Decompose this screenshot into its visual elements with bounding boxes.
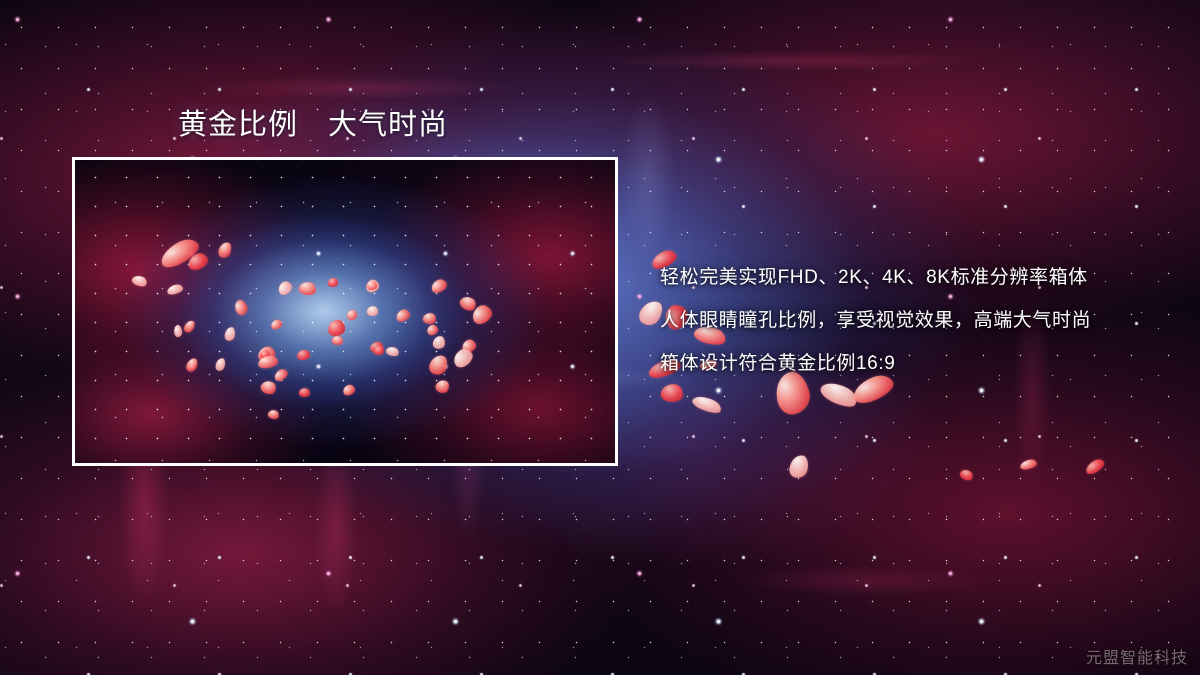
- description-line: 箱体设计符合黄金比例16:9: [660, 342, 1180, 385]
- rose-petal: [328, 278, 338, 287]
- rose-petal: [347, 310, 357, 320]
- rose-petal: [367, 281, 377, 290]
- photo-starfield: [75, 160, 615, 463]
- feature-description: 轻松完美实现FHD、2K、4K、8K标准分辨率箱体 人体眼睛瞳孔比例，享受视觉效…: [660, 256, 1180, 385]
- company-watermark: 元盟智能科技: [1086, 644, 1188, 668]
- description-line: 轻松完美实现FHD、2K、4K、8K标准分辨率箱体: [660, 256, 1180, 299]
- page-title: 黄金比例 大气时尚: [178, 101, 448, 143]
- hero-image-frame: [72, 157, 618, 466]
- rose-petal: [374, 346, 384, 355]
- description-line: 人体眼睛瞳孔比例，享受视觉效果，高端大气时尚: [660, 299, 1180, 342]
- presentation-slide: 黄金比例 大气时尚 轻松完美实现FHD、2K、4K、8K标准分辨率箱体 人体眼睛…: [0, 0, 1200, 675]
